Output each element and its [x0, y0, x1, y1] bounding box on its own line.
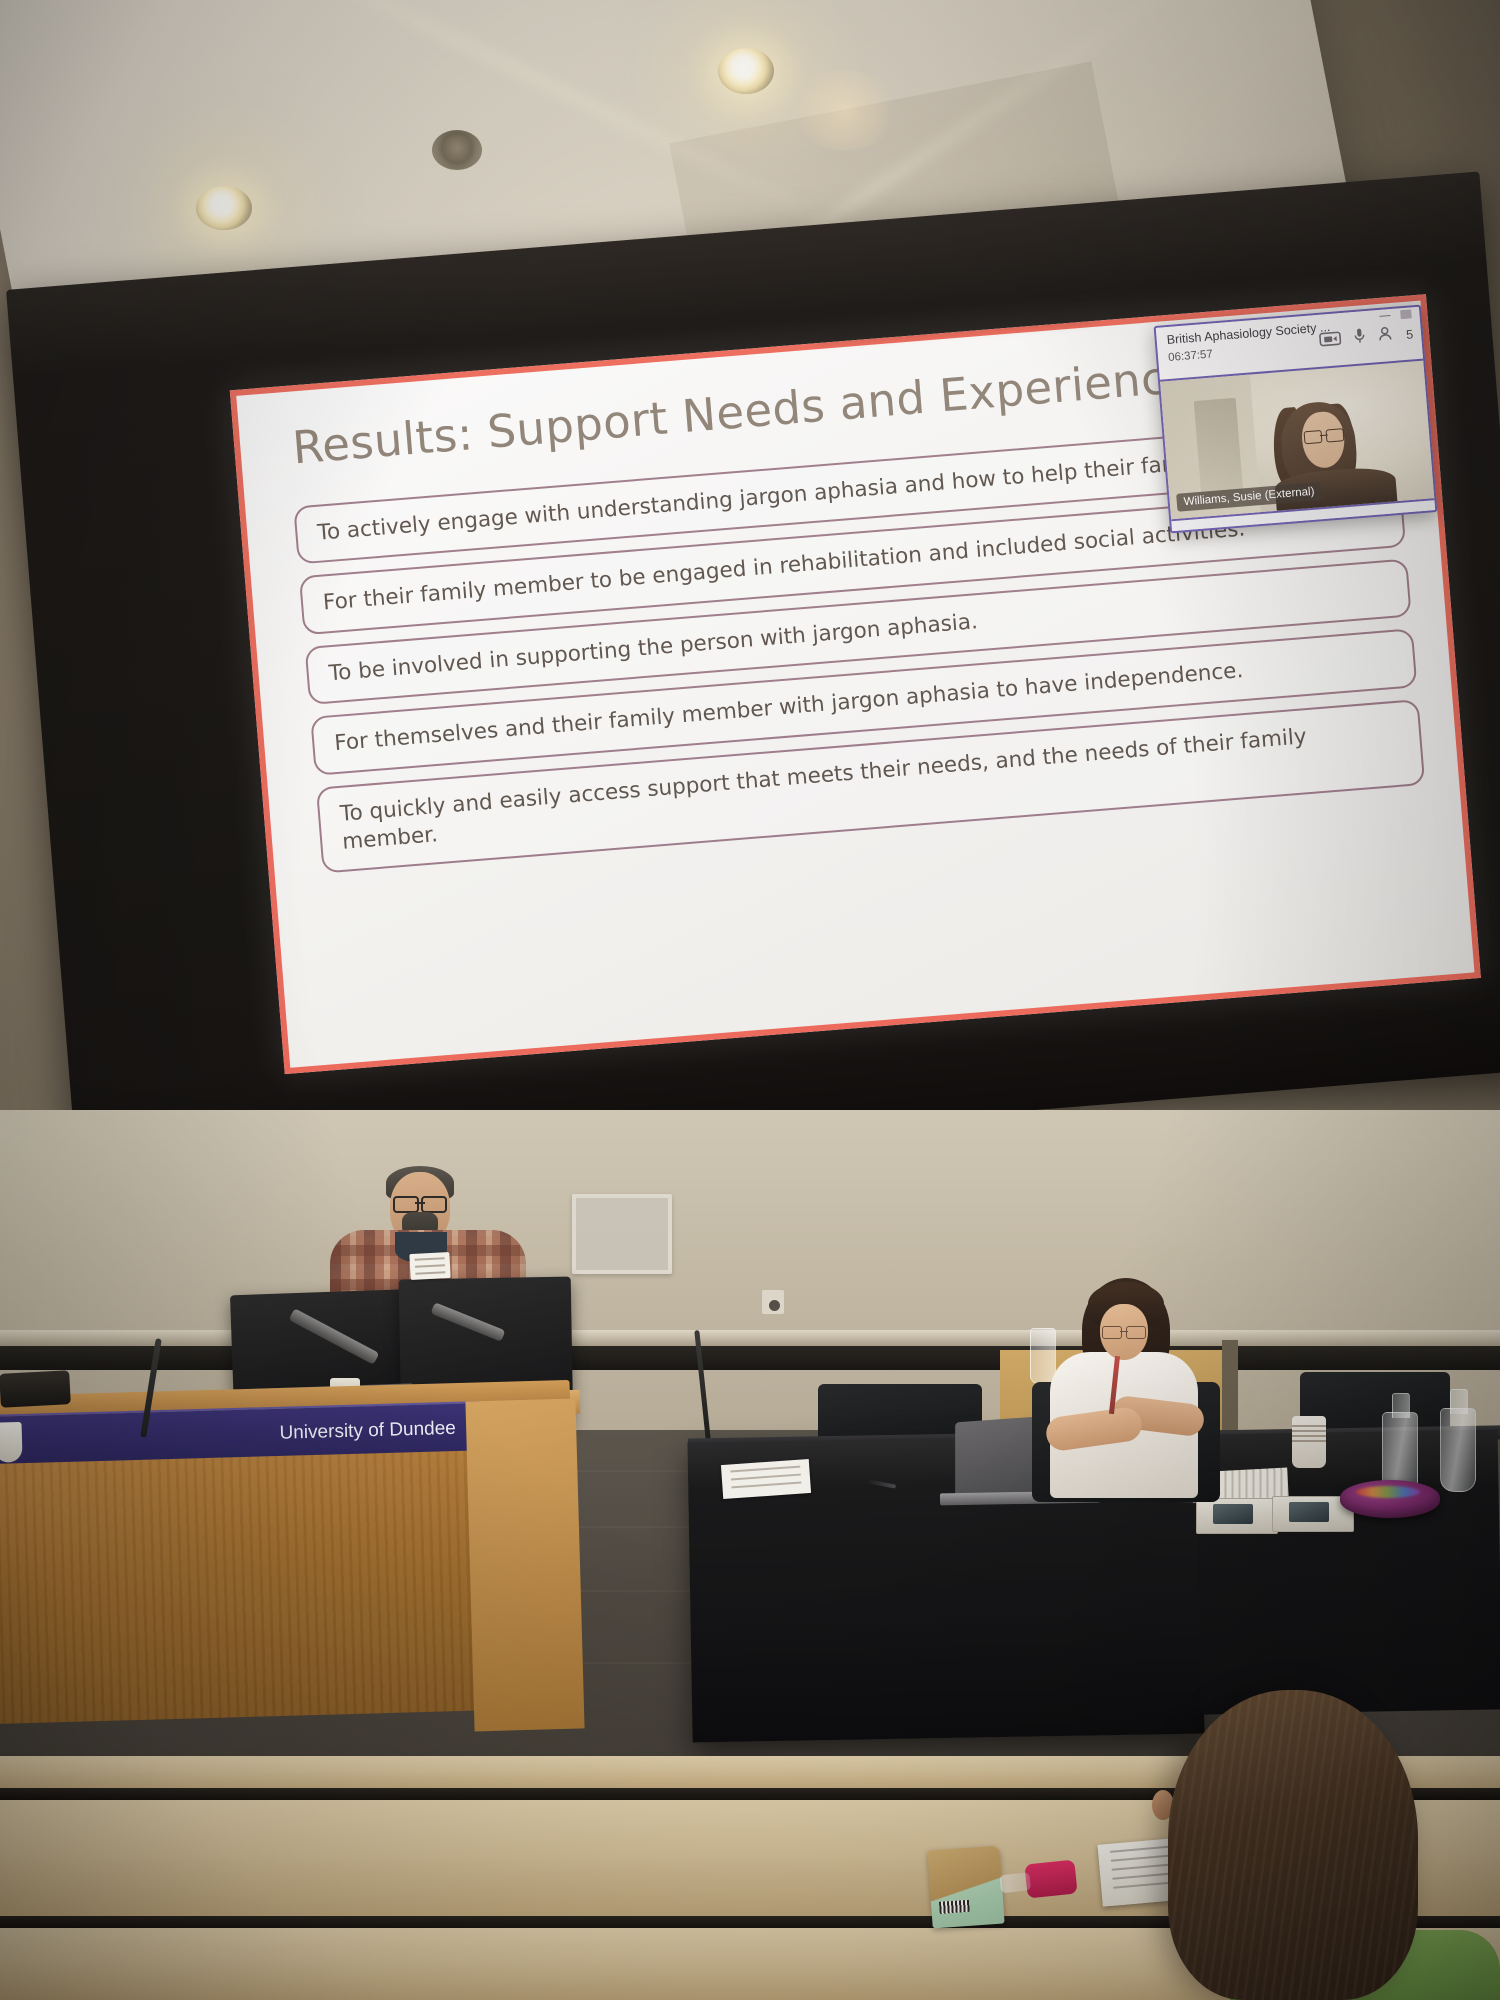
- people-icon[interactable]: [1377, 326, 1393, 347]
- wall-rail: [0, 1346, 1500, 1370]
- downlight-lit-left: [196, 186, 252, 230]
- wall-shelf: [0, 1330, 1500, 1346]
- video-tile[interactable]: Williams, Susie (External): [1160, 359, 1434, 520]
- projection-screen: Results: Support Needs and Experiences T…: [6, 171, 1500, 1187]
- snack-bag: [927, 1846, 1004, 1929]
- panelist-glasses-icon: [1102, 1326, 1146, 1337]
- microphone-icon[interactable]: [1353, 327, 1366, 350]
- gift-box-left: [1196, 1498, 1278, 1534]
- audience-head: [1168, 1690, 1418, 2000]
- shared-screen-surface: Results: Support Needs and Experiences T…: [230, 294, 1481, 1074]
- participant-count: 5: [1406, 327, 1414, 342]
- wall-framed-panel: [572, 1194, 672, 1274]
- university-crest-icon: [0, 1422, 23, 1463]
- venue-name: University of Dundee: [279, 1418, 456, 1445]
- sweets-tin: [1340, 1480, 1440, 1518]
- pink-bottle: [1024, 1859, 1077, 1898]
- minimize-icon[interactable]: [1379, 315, 1390, 317]
- video-background-door: [1193, 398, 1243, 500]
- table-paper: [721, 1459, 811, 1499]
- water-carafe-right: [1440, 1408, 1476, 1492]
- presenter-glasses-icon: [393, 1196, 447, 1209]
- lectern-side-panel: [465, 1399, 584, 1732]
- wall-socket: [762, 1290, 784, 1314]
- downlight-lit-right: [718, 48, 774, 94]
- video-participant-glasses-icon: [1303, 428, 1344, 442]
- maximize-icon[interactable]: [1400, 309, 1412, 319]
- coffee-cup: [1292, 1416, 1326, 1468]
- lecture-theatre-photo: Results: Support Needs and Experiences T…: [0, 0, 1500, 2000]
- meeting-window[interactable]: British Aphasiology Society ... 06:37:57: [1154, 305, 1438, 534]
- camera-icon[interactable]: [1319, 330, 1343, 353]
- desk-phone: [0, 1370, 71, 1408]
- presenter-name-badge: [409, 1252, 450, 1280]
- downlight-off-center: [432, 130, 482, 170]
